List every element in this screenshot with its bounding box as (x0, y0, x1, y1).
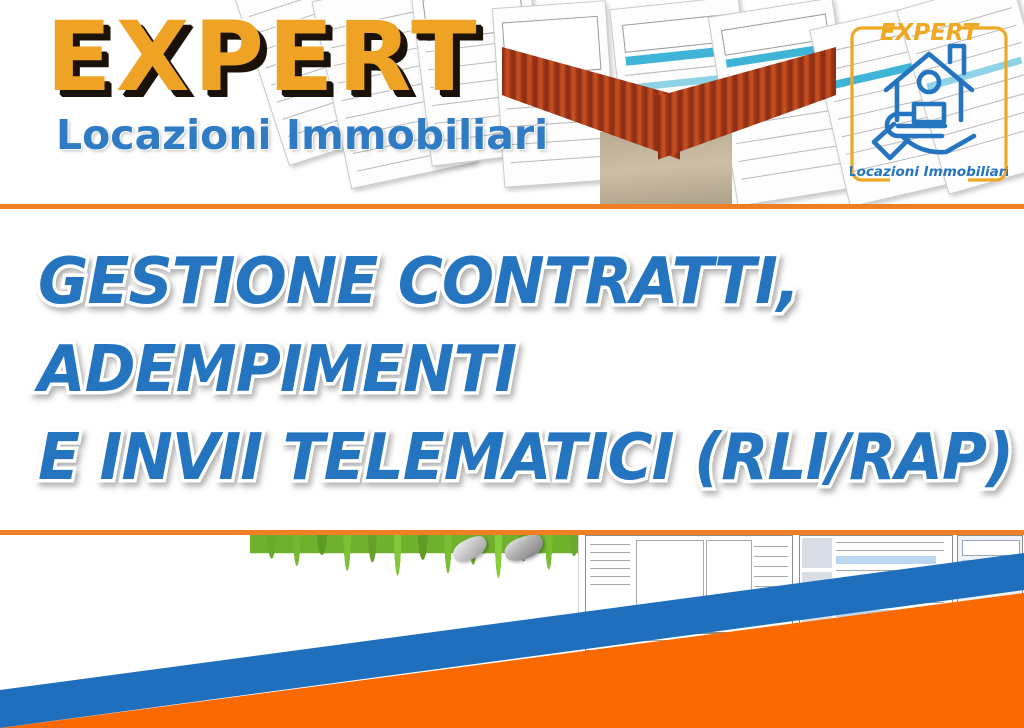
top-banner: EXPERT Locazioni Immobiliari (0, 0, 1024, 207)
logo-subtitle: Locazioni Immobiliari (850, 164, 1008, 180)
headline-line-2: ADEMPIMENTI (38, 326, 985, 414)
logo-badge[interactable]: EXPERT Locazioni Immobiliari (850, 18, 1008, 190)
logo-title: EXPERT (880, 20, 981, 46)
brand-wordmark: EXPERT Locazioni Immobiliari (46, 12, 548, 159)
orange-ribbon (0, 593, 1024, 728)
brand-tagline: Locazioni Immobiliari (56, 111, 548, 159)
headline-line-1: GESTIONE CONTRATTI, (38, 210, 985, 326)
divider-rule-bottom (0, 530, 1024, 535)
logo-frame-left (852, 28, 886, 180)
diagonal-ribbons (0, 533, 1024, 728)
divider-rule-top (0, 204, 1024, 209)
house-icon (886, 46, 972, 122)
brand-name: EXPERT (46, 12, 548, 103)
poster-canvas: EXPERT Locazioni Immobiliari (0, 0, 1024, 728)
logo-svg: EXPERT Locazioni Immobiliari (850, 18, 1008, 190)
headline-block: GESTIONE CONTRATTI, ADEMPIMENTI E INVII … (0, 210, 1024, 528)
house-roof-graphic (508, 96, 828, 207)
headline-line-3: E INVII TELEMATICI (RLI/RAP) (38, 414, 985, 502)
logo-frame-right (972, 28, 1006, 180)
bottom-graphic-area (0, 533, 1024, 728)
